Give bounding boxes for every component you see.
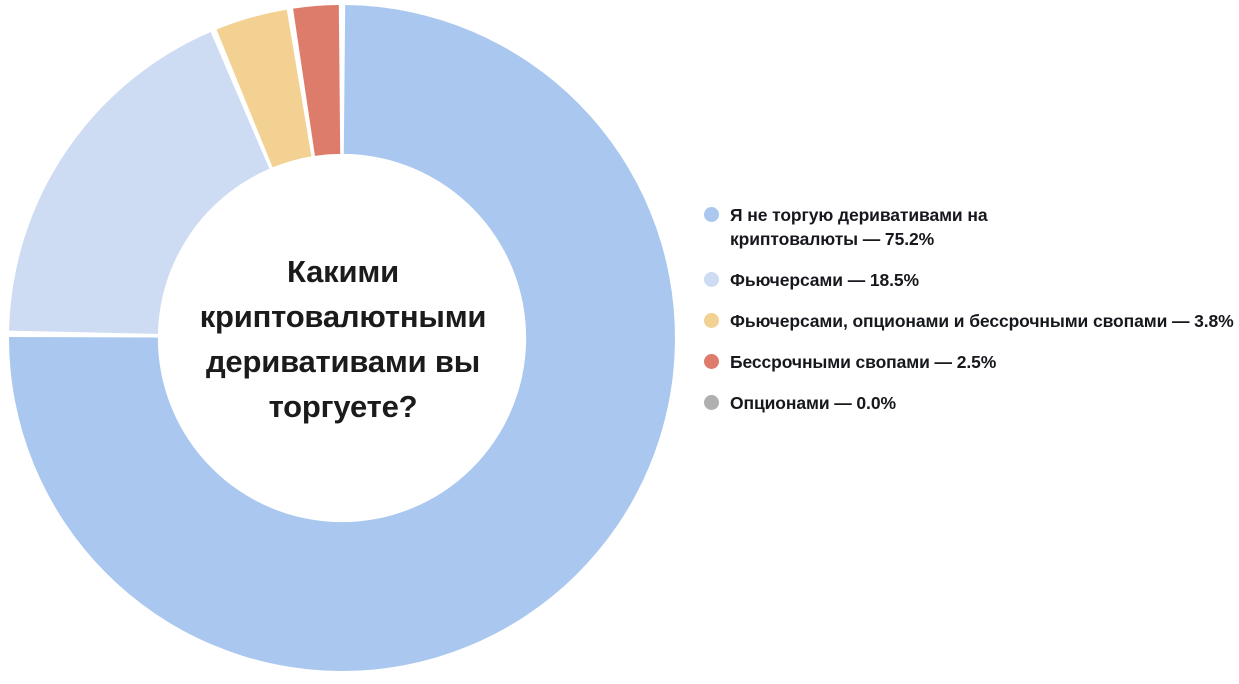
donut-svg [0,0,690,684]
legend-item-label: Фьючерсами — 18.5% [730,268,919,292]
legend-swatch-icon [704,272,719,287]
legend-item-futures[interactable]: Фьючерсами — 18.5% [704,268,1239,292]
legend-item-label: Опционами — 0.0% [730,391,896,415]
donut-chart: Какими криптовалютными деривативами вы т… [0,0,1239,684]
legend-item-perpetual-swaps[interactable]: Бессрочными свопами — 2.5% [704,350,1239,374]
legend-item-label: Бессрочными свопами — 2.5% [730,350,996,374]
legend-swatch-icon [704,395,719,410]
legend-swatch-icon [704,207,719,222]
legend-swatch-icon [704,354,719,369]
legend-item-futures-options-perp-swaps[interactable]: Фьючерсами, опционами и бессрочными своп… [704,309,1239,333]
donut-slice[interactable] [9,32,269,334]
donut-slices [9,5,675,671]
legend-item-options[interactable]: Опционами — 0.0% [704,391,1239,415]
legend-item-label: Я не торгую деривативами на криптовалюты… [730,203,1090,251]
legend-swatch-icon [704,313,719,328]
chart-legend: Я не торгую деривативами на криптовалюты… [704,203,1239,415]
legend-item-label: Фьючерсами, опционами и бессрочными своп… [730,309,1234,333]
donut-plot-area: Какими криптовалютными деривативами вы т… [0,0,690,684]
legend-item-no-derivatives[interactable]: Я не торгую деривативами на криптовалюты… [704,203,1239,251]
